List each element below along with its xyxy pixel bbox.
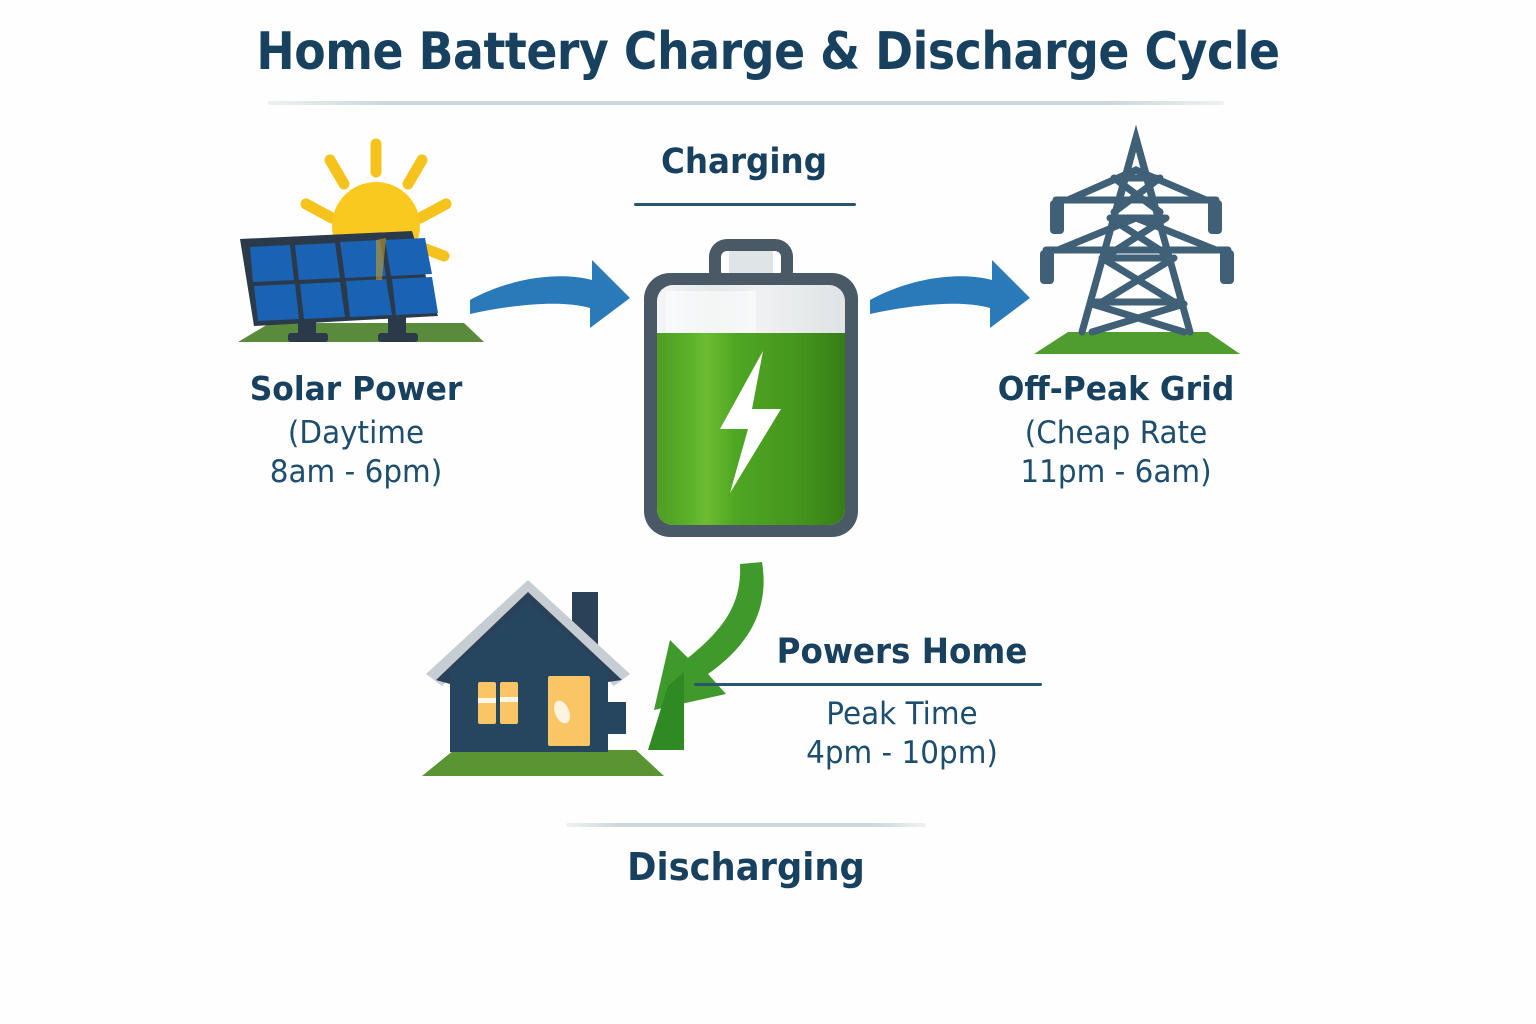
arrow-battery-to-grid (866, 252, 1034, 334)
infographic-canvas: Home Battery Charge & Discharge Cycle (0, 0, 1536, 1024)
powers-home-rule (694, 683, 1042, 686)
powers-home-detail: Peak Time 4pm - 10pm) (716, 698, 1088, 770)
discharging-divider (566, 823, 926, 827)
solar-line3: 8am - 6pm) (189, 456, 523, 489)
title-divider (268, 101, 1224, 105)
grid-line3: 11pm - 6am) (949, 456, 1283, 489)
transmission-tower-icon (1020, 126, 1252, 356)
powers-home-line2: Peak Time (725, 698, 1078, 731)
discharging-label: Discharging (579, 845, 914, 889)
charging-label: Charging (605, 142, 884, 182)
solar-label: Solar Power (Daytime 8am - 6pm) (180, 372, 532, 489)
grid-label: Off-Peak Grid (Cheap Rate 11pm - 6am) (940, 372, 1292, 489)
powers-home-line3: 4pm - 10pm) (725, 737, 1078, 770)
house-icon (412, 562, 684, 794)
battery-icon (636, 243, 866, 555)
page-title: Home Battery Charge & Discharge Cycle (92, 22, 1444, 82)
solar-panel-icon (226, 128, 496, 360)
grid-title: Off-Peak Grid (949, 372, 1283, 407)
grid-line2: (Cheap Rate (949, 417, 1283, 450)
arrow-solar-to-battery (466, 252, 634, 334)
solar-title: Solar Power (189, 372, 523, 407)
powers-home-label: Powers Home (729, 632, 1075, 672)
charging-rule (634, 203, 856, 206)
solar-line2: (Daytime (189, 417, 523, 450)
